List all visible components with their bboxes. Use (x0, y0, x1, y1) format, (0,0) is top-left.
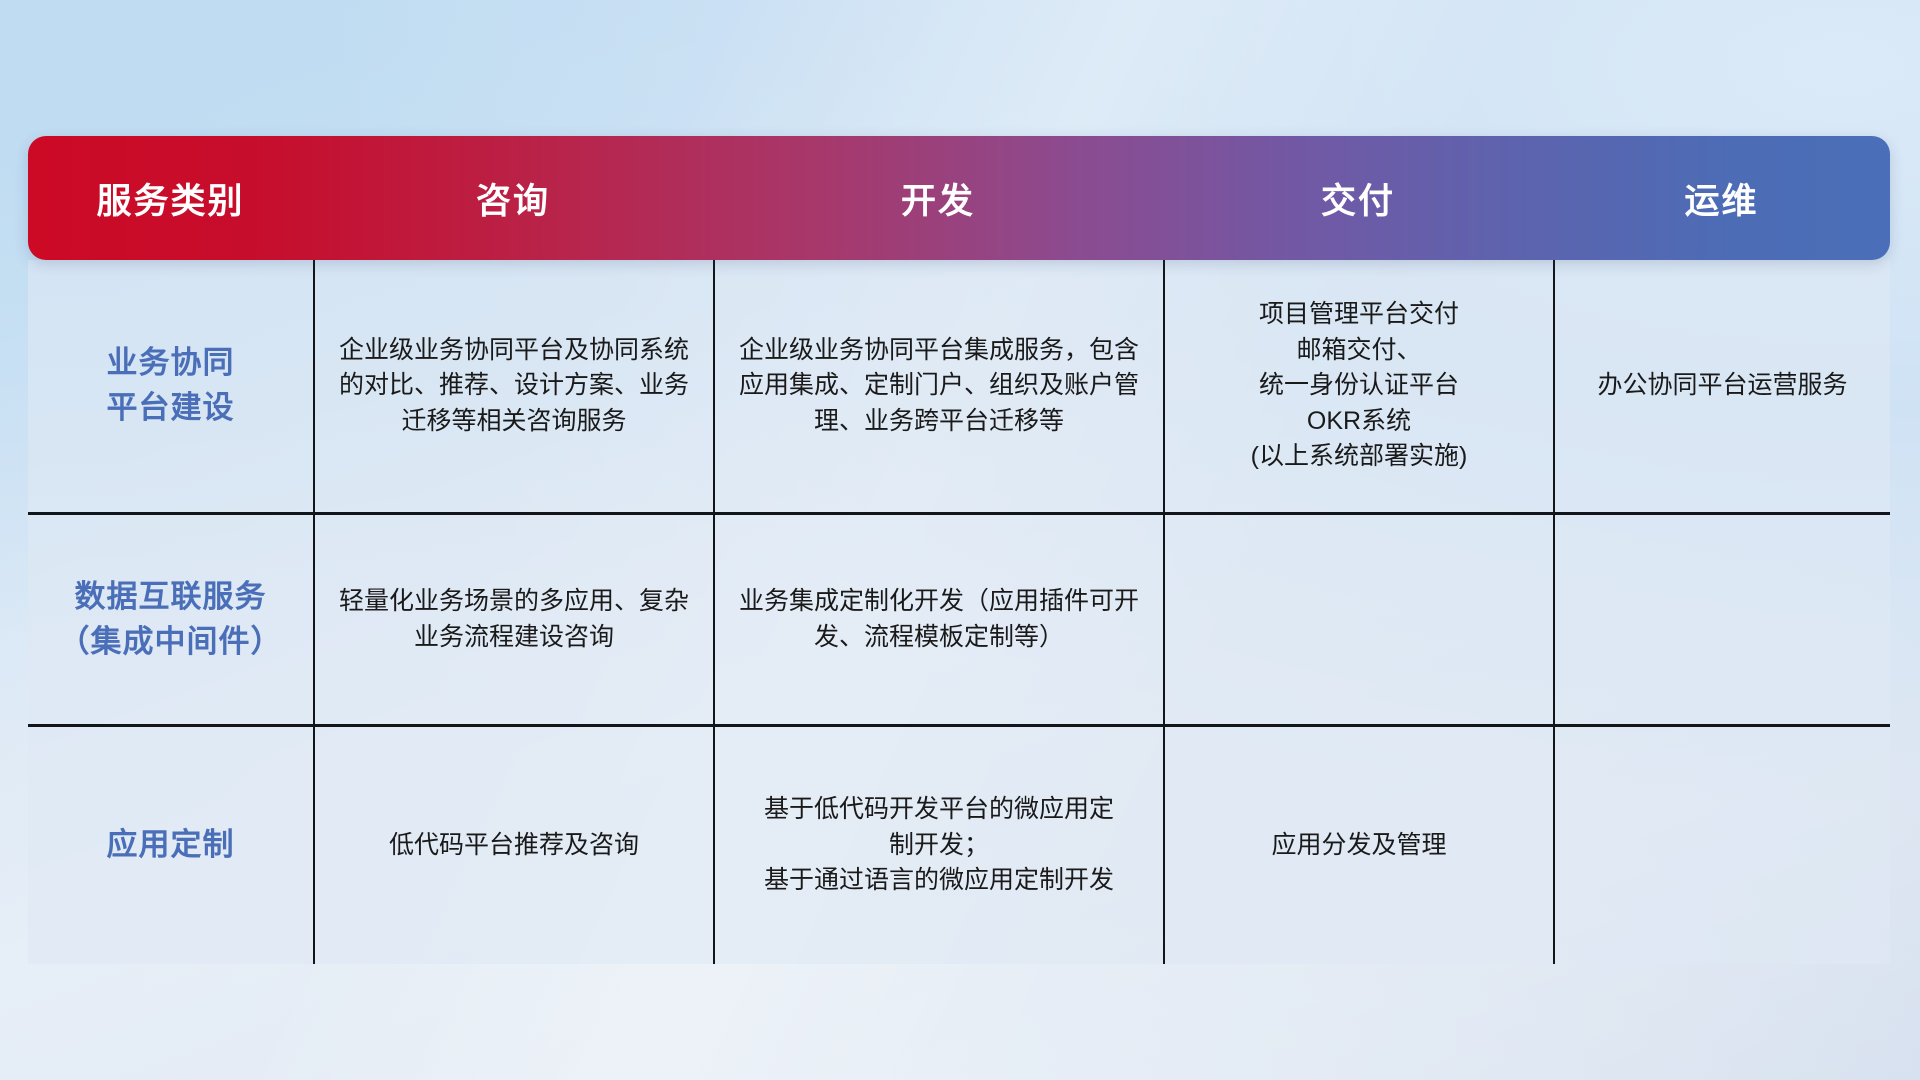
cell-consulting: 低代码平台推荐及咨询 (313, 724, 713, 964)
header-label-development: 开发 (901, 182, 975, 221)
row-category-line: 平台建设 (28, 386, 313, 431)
cell-delivery-line: (以上系统部署实施) (1181, 439, 1537, 475)
service-matrix-table: 服务类别 咨询 开发 交付 运维 (28, 136, 1890, 966)
cell-operations (1553, 512, 1890, 724)
cell-consulting: 轻量化业务场景的多应用、复杂业务流程建设咨询 (313, 512, 713, 724)
row-category-line: （集成中间件） (28, 620, 313, 665)
cell-delivery-line: 邮箱交付、 (1181, 333, 1537, 369)
slide-canvas: 服务类别 咨询 开发 交付 运维 (0, 0, 1920, 1080)
header-label-category: 服务类别 (96, 182, 244, 221)
table-row: 数据互联服务 （集成中间件） 轻量化业务场景的多应用、复杂业务流程建设咨询 业务… (28, 512, 1890, 724)
table-header: 服务类别 咨询 开发 交付 运维 (28, 136, 1890, 260)
table-row: 业务协同 平台建设 企业级业务协同平台及协同系统的对比、推荐、设计方案、业务迁移… (28, 260, 1890, 512)
header-row: 服务类别 咨询 开发 交付 运维 (28, 136, 1890, 260)
header-cell-development: 开发 (713, 136, 1163, 260)
cell-delivery-line: 项目管理平台交付 (1181, 297, 1537, 333)
cell-development: 基于低代码开发平台的微应用定 制开发； 基于通过语言的微应用定制开发 (713, 724, 1163, 964)
cell-development: 业务集成定制化开发（应用插件可开发、流程模板定制等） (713, 512, 1163, 724)
cell-development-line: 基于低代码开发平台的微应用定 (731, 792, 1147, 828)
header-cell-consulting: 咨询 (313, 136, 713, 260)
header-label-operations: 运维 (1684, 182, 1758, 221)
cell-development-line: 基于通过语言的微应用定制开发 (731, 863, 1147, 899)
cell-delivery (1163, 512, 1553, 724)
cell-consulting: 企业级业务协同平台及协同系统的对比、推荐、设计方案、业务迁移等相关咨询服务 (313, 260, 713, 512)
cell-delivery: 项目管理平台交付 邮箱交付、 统一身份认证平台 OKR系统 (以上系统部署实施) (1163, 260, 1553, 512)
cell-delivery: 应用分发及管理 (1163, 724, 1553, 964)
cell-development-line: 制开发； (731, 828, 1147, 864)
table-row: 应用定制 低代码平台推荐及咨询 基于低代码开发平台的微应用定 制开发； 基于通过… (28, 724, 1890, 964)
header-cell-category: 服务类别 (28, 136, 313, 260)
header-label-consulting: 咨询 (476, 182, 550, 221)
cell-operations (1553, 724, 1890, 964)
header-cell-delivery: 交付 (1163, 136, 1553, 260)
table-body: 业务协同 平台建设 企业级业务协同平台及协同系统的对比、推荐、设计方案、业务迁移… (28, 260, 1890, 964)
cell-operations: 办公协同平台运营服务 (1553, 260, 1890, 512)
row-category-line: 数据互联服务 (28, 575, 313, 620)
header-label-delivery: 交付 (1321, 182, 1395, 221)
row-category-label: 应用定制 (28, 724, 313, 964)
service-matrix: 服务类别 咨询 开发 交付 运维 (28, 136, 1890, 964)
cell-delivery-line: 统一身份认证平台 (1181, 368, 1537, 404)
cell-development: 企业级业务协同平台集成服务，包含应用集成、定制门户、组织及账户管理、业务跨平台迁… (713, 260, 1163, 512)
row-category-label: 数据互联服务 （集成中间件） (28, 512, 313, 724)
header-cell-operations: 运维 (1553, 136, 1890, 260)
row-category-label: 业务协同 平台建设 (28, 260, 313, 512)
row-category-line: 业务协同 (28, 341, 313, 386)
cell-delivery-line: OKR系统 (1181, 404, 1537, 440)
row-category-line: 应用定制 (28, 823, 313, 868)
